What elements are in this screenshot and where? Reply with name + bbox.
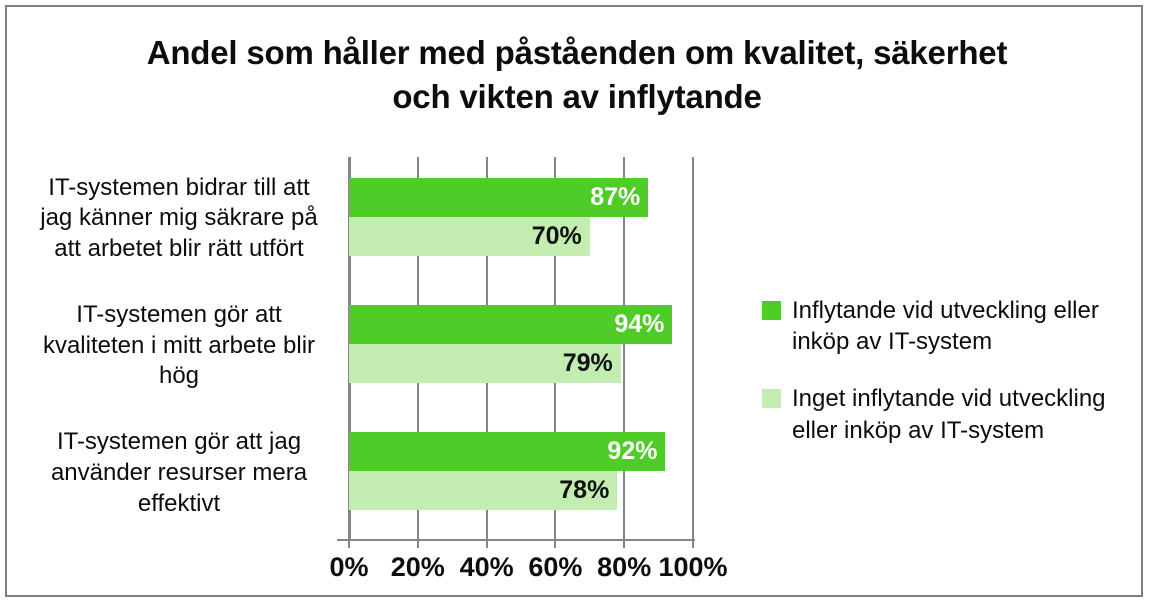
x-tick-100 (692, 539, 694, 548)
bar-value-label-series-1-category-0: 70% (532, 224, 582, 249)
category-label-1-line-1: IT-systemen gör att (76, 301, 281, 328)
category-label-2-line-2: använder resurser mera (51, 459, 307, 486)
x-tick-60 (554, 539, 556, 548)
bar-value-label-series-1-category-1: 79% (563, 351, 613, 376)
bar-value-label-series-0-category-1: 94% (614, 312, 664, 337)
legend-entry-0[interactable]: Inflytande vid utveckling eller inköp av… (762, 295, 1142, 357)
bar-series-1-category-2[interactable]: 78% (349, 471, 617, 510)
legend-label-series-0-line-2: inköp av IT-system (792, 326, 1142, 357)
bar-value-label-series-1-category-2: 78% (559, 478, 609, 503)
legend-label-series-0-line-1: Inflytande vid utveckling eller (792, 295, 1142, 326)
legend-label-series-1-line-1: Inget inflytande vid utveckling (792, 383, 1142, 414)
x-tick-label-100: 100% (638, 552, 748, 583)
category-label-1-line-3: hög (159, 362, 199, 389)
legend-swatch-series-0 (762, 301, 781, 320)
plot-area: 87%70%94%79%92%78% (349, 157, 693, 539)
bar-series-1-category-0[interactable]: 70% (349, 217, 590, 256)
bar-series-1-category-1[interactable]: 79% (349, 344, 621, 383)
legend-label-series-1-line-2: eller inköp av IT-system (792, 415, 1142, 446)
chart-legend: Inflytande vid utveckling eller inköp av… (762, 295, 1142, 472)
chart-title-line-1: Andel som håller med påståenden om kvali… (67, 31, 1087, 75)
category-label-0-line-3: att arbetet blir rätt utfört (54, 235, 303, 262)
x-tick-20 (417, 539, 419, 548)
bar-series-0-category-0[interactable]: 87% (349, 178, 648, 217)
category-axis-labels: IT-systemen bidrar till att jag känner m… (21, 157, 337, 539)
x-tick-0 (348, 539, 350, 548)
legend-entry-1[interactable]: Inget inflytande vid utveckling eller in… (762, 383, 1142, 445)
x-axis-line (337, 539, 695, 541)
category-label-2: IT-systemen gör att jag använder resurse… (21, 427, 337, 519)
category-label-1: IT-systemen gör att kvaliteten i mitt ar… (21, 300, 337, 392)
x-tick-40 (486, 539, 488, 548)
x-tick-80 (623, 539, 625, 548)
chart-frame: Andel som håller med påståenden om kvali… (5, 5, 1143, 597)
chart-title-line-2: och vikten av inflytande (67, 75, 1087, 119)
category-label-1-line-2: kvaliteten i mitt arbete blir (43, 332, 315, 359)
bar-value-label-series-0-category-0: 87% (590, 185, 640, 210)
legend-label-series-0: Inflytande vid utveckling eller inköp av… (792, 295, 1142, 357)
chart-title: Andel som håller med påståenden om kvali… (67, 31, 1087, 118)
x-axis-tick-labels: 0%20%40%60%80%100% (307, 552, 737, 588)
category-label-2-line-3: effektivt (138, 490, 220, 517)
bar-series-0-category-1[interactable]: 94% (349, 305, 672, 344)
gridline-100 (692, 157, 694, 539)
category-label-0: IT-systemen bidrar till att jag känner m… (21, 173, 337, 265)
bar-series-0-category-2[interactable]: 92% (349, 432, 665, 471)
category-label-0-line-1: IT-systemen bidrar till att (48, 174, 309, 201)
category-label-2-line-1: IT-systemen gör att jag (57, 428, 301, 455)
category-label-0-line-2: jag känner mig säkrare på (40, 204, 317, 231)
legend-label-series-1: Inget inflytande vid utveckling eller in… (792, 383, 1142, 445)
bar-value-label-series-0-category-2: 92% (607, 439, 657, 464)
legend-swatch-series-1 (762, 389, 781, 408)
